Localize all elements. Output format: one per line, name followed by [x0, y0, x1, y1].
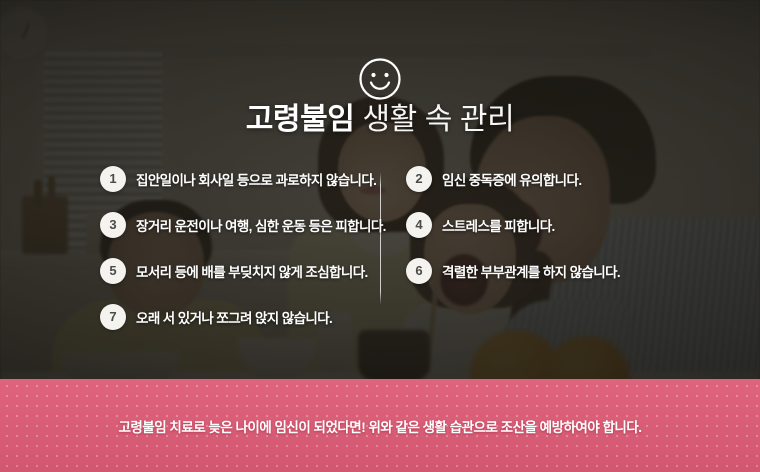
tip-number-badge: 6 — [406, 258, 432, 284]
footer-banner-text: 고령불임 치료로 늦은 나이에 임신이 되었다면! 위와 같은 생활 습관으로 … — [118, 416, 641, 436]
tips-column-right: 2 임신 중독증에 유의합니다. 4 스트레스를 피합니다. 6 격렬한 부부관… — [406, 165, 706, 303]
tip-number-badge: 4 — [406, 212, 432, 238]
list-item: 7 오래 서 있거나 쪼그려 앉지 않습니다. — [100, 303, 372, 330]
tip-number-badge: 1 — [100, 166, 126, 192]
tip-text: 집안일이나 회사일 등으로 과로하지 않습니다. — [136, 169, 376, 189]
infographic-card: 고령불임 생활 속 관리 1 집안일이나 회사일 등으로 과로하지 않습니다. … — [0, 0, 760, 472]
tip-text: 격렬한 부부관계를 하지 않습니다. — [442, 261, 620, 281]
list-item: 6 격렬한 부부관계를 하지 않습니다. — [406, 257, 706, 284]
tip-text: 모서리 등에 배를 부딪치지 않게 조심합니다. — [136, 261, 368, 281]
footer-banner: 고령불임 치료로 늦은 나이에 임신이 되었다면! 위와 같은 생활 습관으로 … — [0, 379, 760, 472]
tip-text: 오래 서 있거나 쪼그려 앉지 않습니다. — [136, 307, 332, 327]
list-item: 3 장거리 운전이나 여행, 심한 운동 등은 피합니다. — [100, 211, 372, 238]
tip-text: 스트레스를 피합니다. — [442, 215, 555, 235]
tip-number-badge: 5 — [100, 258, 126, 284]
tip-text: 임신 중독증에 유의합니다. — [442, 169, 581, 189]
tip-number-badge: 7 — [100, 304, 126, 330]
content-area: 고령불임 생활 속 관리 1 집안일이나 회사일 등으로 과로하지 않습니다. … — [0, 0, 760, 379]
smiley-face-icon — [358, 57, 402, 101]
tip-text: 장거리 운전이나 여행, 심한 운동 등은 피합니다. — [136, 215, 386, 235]
tips-column-left: 1 집안일이나 회사일 등으로 과로하지 않습니다. 3 장거리 운전이나 여행… — [100, 165, 372, 349]
list-item: 1 집안일이나 회사일 등으로 과로하지 않습니다. — [100, 165, 372, 192]
page-title: 고령불임 생활 속 관리 — [0, 101, 760, 139]
tip-number-badge: 2 — [406, 166, 432, 192]
list-item: 4 스트레스를 피합니다. — [406, 211, 706, 238]
list-item: 5 모서리 등에 배를 부딪치지 않게 조심합니다. — [100, 257, 372, 284]
column-divider — [380, 172, 381, 305]
tip-number-badge: 3 — [100, 212, 126, 238]
list-item: 2 임신 중독증에 유의합니다. — [406, 165, 706, 192]
page-title-bold: 고령불임 — [246, 103, 355, 136]
page-title-light: 생활 속 관리 — [362, 103, 514, 136]
